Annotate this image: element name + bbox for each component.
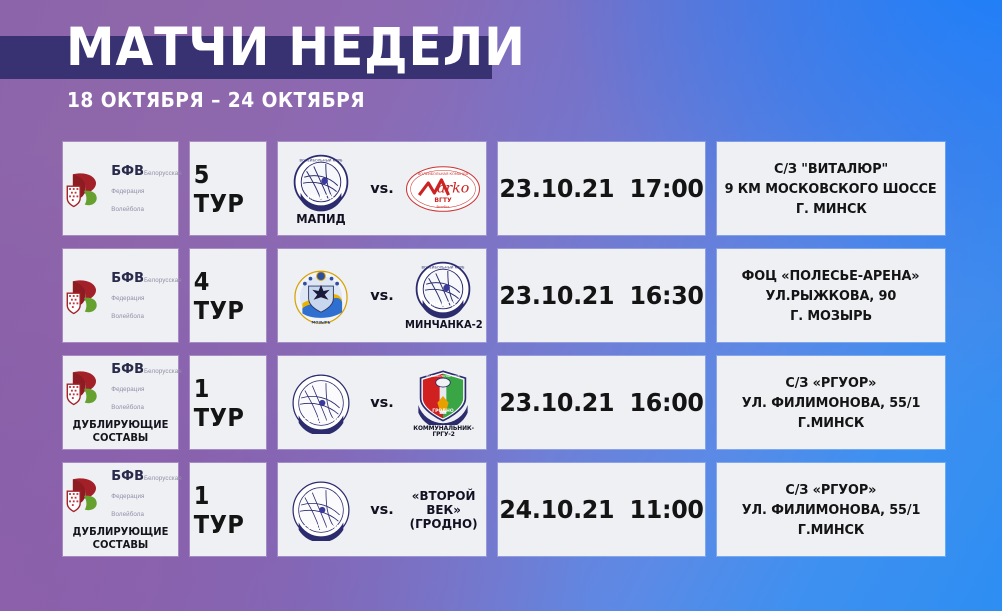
match-row: БФВБелорусскаяФедерацияВолейболаДУБЛИРУЮ… [0, 463, 1002, 556]
tour-label: 1 ТУР [194, 374, 262, 432]
svg-text:СДЮШОР: СДЮШОР [303, 417, 338, 424]
venue-line: Г.МИНСК [798, 413, 865, 433]
svg-text:ВОЛЕЙБОЛЬНЫЙ КЛУБ: ВОЛЕЙБОЛЬНЫЙ КЛУБ [427, 372, 461, 377]
away-team-text: «ВТОРОЙ ВЕК»(ГРОДНО) [403, 489, 484, 531]
svg-text:МИНСК: МИНСК [429, 301, 457, 309]
venue-line: УЛ. ФИЛИМОНОВА, 55/1 [742, 500, 921, 520]
federation-abbr: БФВ [111, 469, 144, 484]
datetime-cell: 23.10.2116:30 [498, 249, 705, 342]
minchanka-volleyball-logo-icon: МИНСКВОЛЕЙБОЛЬНЫЙ КЛУБ [413, 259, 473, 319]
vs-label: vs. [370, 502, 394, 518]
kommunalnik-grgu-logo-icon: ГРОДНОВОЛЕЙБОЛЬНЫЙ КЛУБ [415, 367, 471, 425]
svg-text:СДЮШОР: СДЮШОР [303, 524, 338, 531]
federation-name-block: БФВБелорусскаяФедерацияВолейбола [111, 269, 181, 323]
mapid-volleyball-logo-icon: МИНСКВОЛЕЙБОЛЬНЫЙ КЛУБ [291, 152, 351, 212]
bfv-federation-logo-icon [59, 166, 105, 212]
away-team: МИНСКВОЛЕЙБОЛЬНЫЙ КЛУБМИНЧАНКА-2 [401, 259, 486, 331]
tour-cell: 5 ТУР [190, 142, 266, 235]
federation-cell: БФВБелорусскаяФедерацияВолейбола [63, 142, 178, 235]
venue-cell: С/З «РГУОР»УЛ. ФИЛИМОНОВА, 55/1Г.МИНСК [717, 356, 945, 449]
away-team: «ВТОРОЙ ВЕК»(ГРОДНО) [401, 489, 486, 531]
svg-text:Витебск: Витебск [437, 205, 450, 209]
federation-abbr: БФВ [111, 362, 144, 377]
svg-text:ГРОДНО: ГРОДНО [433, 408, 455, 414]
federation-cell: БФВБелорусскаяФедерацияВолейболаДУБЛИРУЮ… [63, 463, 178, 556]
federation-logo-block: БФВБелорусскаяФедерацияВолейбола [59, 269, 181, 323]
federation-logo-block: БФВБелорусскаяФедерацияВолейбола [59, 162, 181, 216]
bfv-federation-logo-icon [59, 471, 105, 517]
venue-line: УЛ.РЫЖКОВА, 90 [766, 286, 897, 306]
sdyushor-volleyball-logo-icon: СДЮШОР [290, 479, 352, 541]
venue-line: УЛ. ФИЛИМОНОВА, 55/1 [742, 393, 921, 413]
venue-line: С/З "ВИТАЛЮР" [774, 159, 888, 179]
match-date: 24.10.21 [499, 495, 614, 524]
vs-label: vs. [370, 181, 394, 197]
home-team: СДЮШОР [278, 372, 363, 434]
teams-cell: МИНСКВОЛЕЙБОЛЬНЫЙ КЛУБМАПИДvs.ВОЛЕЙБОЛЬН… [278, 142, 486, 235]
federation-logo-block: БФВБелорусскаяФедерацияВолейбола [59, 360, 181, 414]
tour-label: 5 ТУР [194, 160, 262, 218]
date-range-subtitle: 18 ОКТЯБРЯ – 24 ОКТЯБРЯ [67, 88, 365, 112]
tour-cell: 1 ТУР [190, 463, 266, 556]
venue-cell: С/З "ВИТАЛЮР"9 КМ МОСКОВСКОГО ШОССЕГ. МИ… [717, 142, 945, 235]
tour-cell: 1 ТУР [190, 356, 266, 449]
match-date: 23.10.21 [499, 281, 614, 310]
venue-line: С/З «РГУОР» [786, 480, 877, 500]
datetime-cell: 23.10.2116:00 [498, 356, 705, 449]
reserve-squads-label: ДУБЛИРУЮЩИЕСОСТАВЫ [73, 419, 169, 445]
svg-text:ВГТУ: ВГТУ [435, 197, 453, 204]
tour-cell: 4 ТУР [190, 249, 266, 342]
bfv-federation-logo-icon [59, 364, 105, 410]
page-title: МАТЧИ НЕДЕЛИ [66, 19, 526, 77]
svg-text:ВОЛЕЙБОЛЬНЫЙ КЛУБ: ВОЛЕЙБОЛЬНЫЙ КЛУБ [299, 157, 343, 162]
zhemchuzhina-polesya-logo-icon: МОЗЫРЬ [288, 265, 354, 327]
away-team-caption: МИНЧАНКА-2 [405, 320, 483, 331]
match-row: БФВБелорусскаяФедерацияВолейбола5 ТУРМИН… [0, 142, 1002, 235]
home-team: МОЗЫРЬ [278, 265, 363, 327]
match-time: 11:00 [629, 495, 703, 524]
federation-name-block: БФВБелорусскаяФедерацияВолейбола [111, 360, 181, 414]
teams-cell: СДЮШОРvs.«ВТОРОЙ ВЕК»(ГРОДНО) [278, 463, 486, 556]
federation-abbr: БФВ [111, 164, 144, 179]
venue-cell: С/З «РГУОР»УЛ. ФИЛИМОНОВА, 55/1Г.МИНСК [717, 463, 945, 556]
away-team: ВОЛЕЙБОЛЬНАЯ КОМАНДАarkoВГТУВитебск [401, 163, 486, 215]
venue-line: 9 КМ МОСКОВСКОГО ШОССЕ [725, 179, 937, 199]
match-datetime: 23.10.2116:30 [499, 281, 703, 310]
venue-line: Г. МИНСК [796, 199, 867, 219]
home-team-caption: МАПИД [296, 213, 345, 226]
federation-abbr: БФВ [111, 271, 144, 286]
federation-name-block: БФВБелорусскаяФедерацияВолейбола [111, 467, 181, 521]
teams-cell: СДЮШОРvs.ГРОДНОВОЛЕЙБОЛЬНЫЙ КЛУБКОММУНАЛ… [278, 356, 486, 449]
match-time: 17:00 [629, 174, 703, 203]
away-team-caption: КОММУНАЛЬНИК-ГРГУ-2 [403, 426, 484, 439]
tour-label: 1 ТУР [194, 481, 262, 539]
tour-label: 4 ТУР [194, 267, 262, 325]
away-team: ГРОДНОВОЛЕЙБОЛЬНЫЙ КЛУБКОММУНАЛЬНИК-ГРГУ… [401, 367, 486, 439]
match-rows: БФВБелорусскаяФедерацияВолейбола5 ТУРМИН… [0, 142, 1002, 570]
sdyushor-volleyball-logo-icon: СДЮШОР [290, 372, 352, 434]
venue-cell: ФОЦ «ПОЛЕСЬЕ-АРЕНА»УЛ.РЫЖКОВА, 90Г. МОЗЫ… [717, 249, 945, 342]
venue-line: ФОЦ «ПОЛЕСЬЕ-АРЕНА» [742, 266, 920, 286]
federation-cell: БФВБелорусскаяФедерацияВолейбола [63, 249, 178, 342]
match-time: 16:30 [629, 281, 703, 310]
home-team: МИНСКВОЛЕЙБОЛЬНЫЙ КЛУБМАПИД [278, 152, 363, 226]
match-date: 23.10.21 [499, 388, 614, 417]
match-row: БФВБелорусскаяФедерацияВолейбола4 ТУРМОЗ… [0, 249, 1002, 342]
match-schedule-poster: МАТЧИ НЕДЕЛИ 18 ОКТЯБРЯ – 24 ОКТЯБРЯ БФВ… [0, 0, 1002, 611]
svg-text:МОЗЫРЬ: МОЗЫРЬ [311, 320, 330, 324]
venue-line: С/З «РГУОР» [786, 373, 877, 393]
vs-label: vs. [370, 395, 394, 411]
home-team: СДЮШОР [278, 479, 363, 541]
match-datetime: 24.10.2111:00 [499, 495, 703, 524]
datetime-cell: 23.10.2117:00 [498, 142, 705, 235]
teams-cell: МОЗЫРЬvs.МИНСКВОЛЕЙБОЛЬНЫЙ КЛУБМИНЧАНКА-… [278, 249, 486, 342]
federation-name-block: БФВБелорусскаяФедерацияВолейбола [111, 162, 181, 216]
svg-text:ВОЛЕЙБОЛЬНЫЙ КЛУБ: ВОЛЕЙБОЛЬНЫЙ КЛУБ [422, 265, 466, 270]
venue-line: Г.МИНСК [798, 520, 865, 540]
reserve-squads-label: ДУБЛИРУЮЩИЕСОСТАВЫ [73, 526, 169, 552]
venue-line: Г. МОЗЫРЬ [790, 306, 872, 326]
federation-cell: БФВБелорусскаяФедерацияВолейболаДУБЛИРУЮ… [63, 356, 178, 449]
match-date: 23.10.21 [499, 174, 614, 203]
datetime-cell: 24.10.2111:00 [498, 463, 705, 556]
vs-label: vs. [370, 288, 394, 304]
svg-text:МИНСК: МИНСК [307, 193, 335, 201]
match-row: БФВБелорусскаяФедерацияВолейболаДУБЛИРУЮ… [0, 356, 1002, 449]
match-datetime: 23.10.2116:00 [499, 388, 703, 417]
match-datetime: 23.10.2117:00 [499, 174, 703, 203]
federation-logo-block: БФВБелорусскаяФедерацияВолейбола [59, 467, 181, 521]
svg-text:arko: arko [437, 180, 469, 196]
svg-text:ВОЛЕЙБОЛЬНАЯ КОМАНДА: ВОЛЕЙБОЛЬНАЯ КОМАНДА [418, 170, 469, 175]
match-time: 16:00 [629, 388, 703, 417]
marko-vgtu-logo-icon: ВОЛЕЙБОЛЬНАЯ КОМАНДАarkoВГТУВитебск [405, 163, 481, 215]
bfv-federation-logo-icon [59, 273, 105, 319]
